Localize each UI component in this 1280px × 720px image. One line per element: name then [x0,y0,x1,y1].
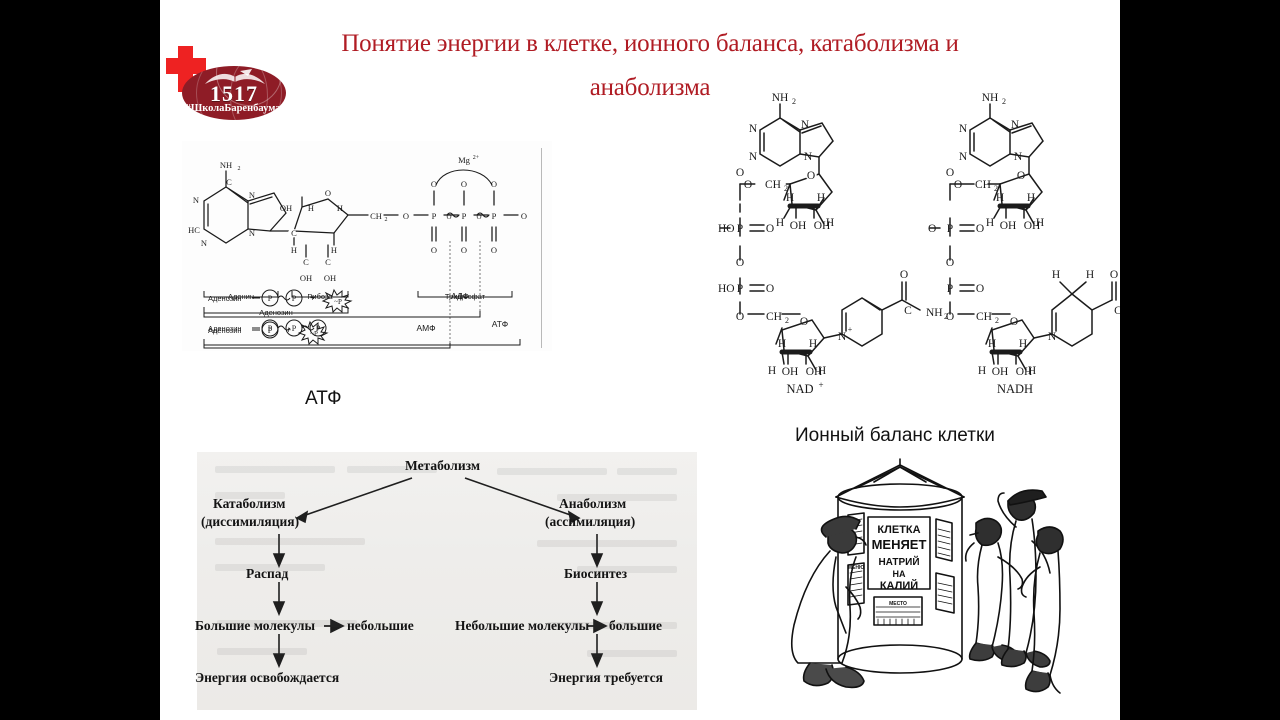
metabolism-diagram-figure: Метаболизм Катаболизм (диссимиляция) Рас… [197,452,697,710]
svg-text:H: H [1027,192,1035,204]
burst-phosphate-adp: ~P [323,290,351,312]
svg-text:OH: OH [782,366,799,378]
svg-text:OH: OH [1024,220,1041,232]
svg-text:P: P [432,211,437,221]
svg-text:КАЛИЙ: КАЛИЙ [880,579,918,592]
svg-text:H: H [988,338,996,350]
svg-text:N: N [201,238,207,248]
svg-text:NAD: NAD [786,382,813,396]
svg-text:O: O [928,223,936,235]
svg-text:P: P [268,326,273,335]
catabolism-step-from: Большие молекулы [195,618,315,634]
svg-text:OH: OH [814,220,831,232]
svg-text:C: C [325,257,331,267]
svg-text:Mg: Mg [458,155,471,165]
svg-text:2: 2 [995,316,999,325]
svg-text:~P: ~P [310,330,318,338]
svg-text:C: C [303,257,309,267]
svg-text:МЕНЮ: МЕНЮ [848,565,864,571]
catabolism-title-2: (диссимиляция) [201,514,299,530]
svg-text:NH: NH [982,92,999,104]
nad-nadh-drawing: NH2 NN NN O O CH OCH2 O HH HH OHOH O PO … [720,88,1120,393]
svg-text:P: P [462,211,467,221]
svg-text:O: O [403,211,409,221]
svg-text:N: N [838,331,847,343]
svg-text:~P: ~P [334,298,342,306]
presentation-slide: 1517 #ШколаБаренбаума Понятие энергии в … [160,0,1120,720]
svg-text:NH: NH [926,307,943,319]
svg-text:O: O [1017,170,1025,182]
svg-text:O: O [900,269,908,281]
ion-balance-cartoon: КЛЕТКА МЕНЯЕТ НАТРИЙ НА КАЛИЙ МЕНЮ МЕСТО [770,457,1060,712]
svg-text:O: O [521,211,527,221]
svg-text:O: O [491,245,497,255]
metabolism-root: Метаболизм [405,458,480,474]
svg-text:O: O [736,167,744,179]
svg-text:O: O [736,257,744,269]
catabolism-step-energy: Энергия освобождается [195,670,339,686]
svg-text:O: O [476,213,481,221]
svg-text:H: H [1052,269,1060,281]
svg-text:CH: CH [976,311,992,323]
svg-text:OH: OH [992,366,1009,378]
svg-text:O: O [491,179,497,189]
svg-text:N: N [959,151,968,163]
svg-text:Аденозин: Аденозин [208,294,242,303]
title-line-1: Понятие энергии в клетке, ионного баланс… [341,30,958,57]
svg-text:2: 2 [1002,97,1006,106]
svg-text:2: 2 [238,166,241,172]
svg-text:H: H [331,245,337,255]
svg-text:H: H [817,192,825,204]
catabolism-step-to: небольшие [347,618,414,634]
svg-text:+: + [310,293,315,303]
svg-text:НА: НА [893,569,906,579]
svg-text:O: O [946,311,954,323]
svg-text:CH: CH [765,179,781,191]
svg-text:КЛЕТКА: КЛЕТКА [877,524,920,536]
svg-text:O: O [954,179,962,191]
burst-phosphate-amp: ~P [299,322,327,344]
svg-text:N: N [249,190,255,200]
svg-text:H: H [1019,338,1027,350]
svg-text:OH: OH [280,203,292,213]
svg-text:P: P [947,283,953,295]
svg-text:OH: OH [806,366,823,378]
svg-text:CH: CH [370,211,382,221]
atp-structure-figure: NH2 NHCN CNN C C OH O HH HH CC OHOH CH2 … [182,141,552,351]
svg-text:+: + [848,325,853,334]
svg-text:OH: OH [300,273,312,283]
svg-text:P: P [737,223,743,235]
svg-text:O: O [325,188,331,198]
svg-text:O: O [807,170,815,182]
svg-text:O: O [946,257,954,269]
cartoon-drawing: КЛЕТКА МЕНЯЕТ НАТРИЙ НА КАЛИЙ МЕНЮ МЕСТО [770,457,1060,712]
svg-text:O: O [461,179,467,189]
svg-text:OH: OH [324,273,336,283]
svg-text:HO: HO [718,283,735,295]
svg-text:O: O [461,245,467,255]
svg-text:C: C [1114,305,1120,317]
svg-text:P: P [492,211,497,221]
atp-caption: АТФ [305,388,342,410]
atp-adp-amp-rows: Аденозин PP + ~P АДФ [182,289,552,349]
svg-text:H: H [778,338,786,350]
svg-text:H: H [1086,269,1094,281]
svg-text:O: O [976,283,984,295]
svg-text:N: N [801,119,810,131]
svg-text:H: H [786,192,794,204]
svg-text:O: O [1110,269,1118,281]
svg-text:N: N [249,228,255,238]
svg-text:2: 2 [385,217,388,223]
svg-text:OH: OH [790,220,807,232]
svg-text:N: N [1048,331,1057,343]
anabolism-title-1: Анаболизм [559,496,626,512]
nad-nadh-figure: NH2 NN NN O O CH OCH2 O HH HH OHOH O PO … [720,88,1120,393]
svg-text:N: N [959,123,968,135]
vertical-divider [541,148,542,348]
svg-text:2: 2 [792,97,796,106]
slide-letterbox: 1517 #ШколаБаренбаума Понятие энергии в … [0,0,1280,720]
svg-text:НАТРИЙ: НАТРИЙ [878,555,919,568]
svg-text:C: C [904,305,912,317]
svg-text:O: O [431,179,437,189]
svg-text:МЕНЯЕТ: МЕНЯЕТ [872,537,927,552]
svg-text:H: H [986,217,994,229]
svg-text:O: O [766,283,774,295]
svg-text:HO: HO [718,223,735,235]
svg-text:N: N [749,123,758,135]
logo-hashtag: #ШколаБаренбаума [182,103,286,115]
logo-number: 1517 [182,83,286,105]
svg-text:N: N [804,151,813,163]
svg-text:O: O [744,179,752,191]
svg-text:H: H [768,365,776,377]
svg-text:P: P [737,283,743,295]
svg-text:O: O [766,223,774,235]
svg-text:P: P [268,294,273,303]
anabolism-step-to: большие [609,618,662,634]
svg-text:O: O [800,316,808,328]
svg-text:H: H [291,245,297,255]
svg-text:OH: OH [1016,366,1033,378]
svg-text:CH: CH [975,179,991,191]
svg-text:N: N [1011,119,1020,131]
ion-balance-caption: Ионный баланс клетки [795,425,995,447]
svg-text:NADH: NADH [997,382,1033,396]
svg-text:H: H [996,192,1004,204]
svg-text:2: 2 [785,316,789,325]
catabolism-step-decay: Распад [246,566,288,582]
svg-text:OH: OH [1000,220,1017,232]
svg-text:Аденозин: Аденозин [208,326,242,335]
svg-text:P: P [947,223,953,235]
svg-text:АДФ: АДФ [451,291,469,301]
svg-text:H: H [776,217,784,229]
svg-text:C: C [226,177,232,187]
anabolism-title-2: (ассимиляция) [545,514,635,530]
svg-text:+: + [818,380,823,390]
anabolism-step-biosynth: Биосинтез [564,566,627,582]
svg-text:+: + [286,325,291,335]
svg-text:N: N [1014,151,1023,163]
svg-text:NH: NH [220,160,232,170]
svg-text:H: H [809,338,817,350]
svg-text:МЕСТО: МЕСТО [889,601,907,607]
svg-text:2+: 2+ [473,155,480,161]
svg-text:H: H [978,365,986,377]
svg-text:O: O [946,167,954,179]
svg-text:CH: CH [766,311,782,323]
svg-text:H: H [308,203,314,213]
svg-text:HC: HC [188,225,200,235]
svg-text:C: C [291,228,297,238]
svg-text:P: P [292,294,297,303]
svg-text:O: O [736,311,744,323]
svg-text:O: O [431,245,437,255]
anabolism-step-energy: Энергия требуется [549,670,663,686]
catabolism-title-1: Катаболизм [213,496,285,512]
svg-text:N: N [193,195,199,205]
svg-text:N: N [749,151,758,163]
svg-text:АМФ: АМФ [416,323,435,333]
svg-text:O: O [1010,316,1018,328]
svg-text:NH: NH [772,92,789,104]
svg-text:H: H [337,203,343,213]
anabolism-step-from: Небольшие молекулы [455,618,589,634]
svg-text:O: O [446,213,451,221]
svg-text:O: O [976,223,984,235]
